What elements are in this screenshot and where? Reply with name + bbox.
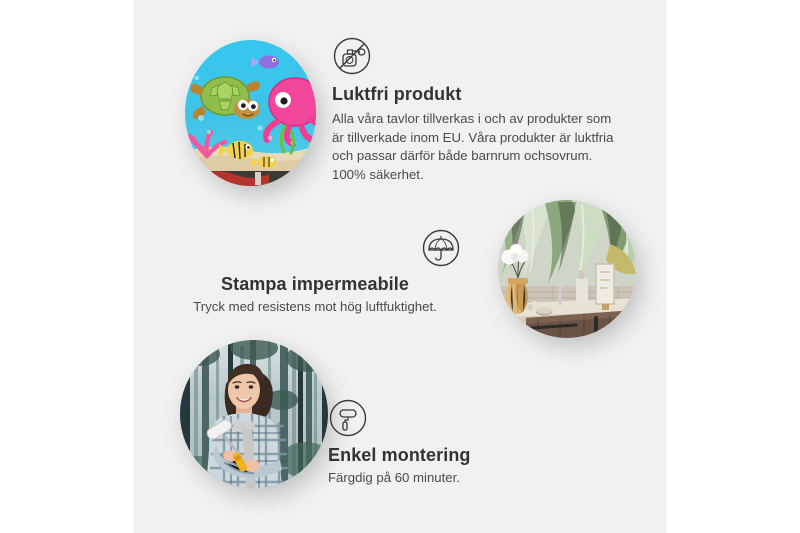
bathroom-vanity-photo [498, 200, 636, 338]
no-smell-icon [332, 36, 372, 76]
painter-forest-photo [180, 340, 328, 488]
product-feature-banner: Luktfri produkt Alla våra tavlor tillver… [0, 0, 800, 533]
paint-roller-icon [328, 398, 368, 438]
feature-block-montering: Enkel montering Färgdig på 60 minuter. [328, 398, 588, 488]
feature-body: Alla våra tavlor tillverkas i och av pro… [332, 110, 622, 184]
feature-block-impermeabile: Stampa impermeabile Tryck med resistens … [165, 228, 465, 317]
feature-body: Färgdig på 60 minuter. [328, 469, 588, 488]
feature-title: Enkel montering [328, 445, 588, 466]
feature-block-luktfri: Luktfri produkt Alla våra tavlor tillver… [332, 36, 632, 184]
feature-body: Tryck med resistens mot hög luftfuktighe… [165, 298, 465, 317]
umbrella-icon [421, 228, 461, 268]
underwater-cartoon-photo [185, 40, 316, 186]
feature-title: Stampa impermeabile [165, 274, 465, 295]
feature-title: Luktfri produkt [332, 84, 632, 105]
